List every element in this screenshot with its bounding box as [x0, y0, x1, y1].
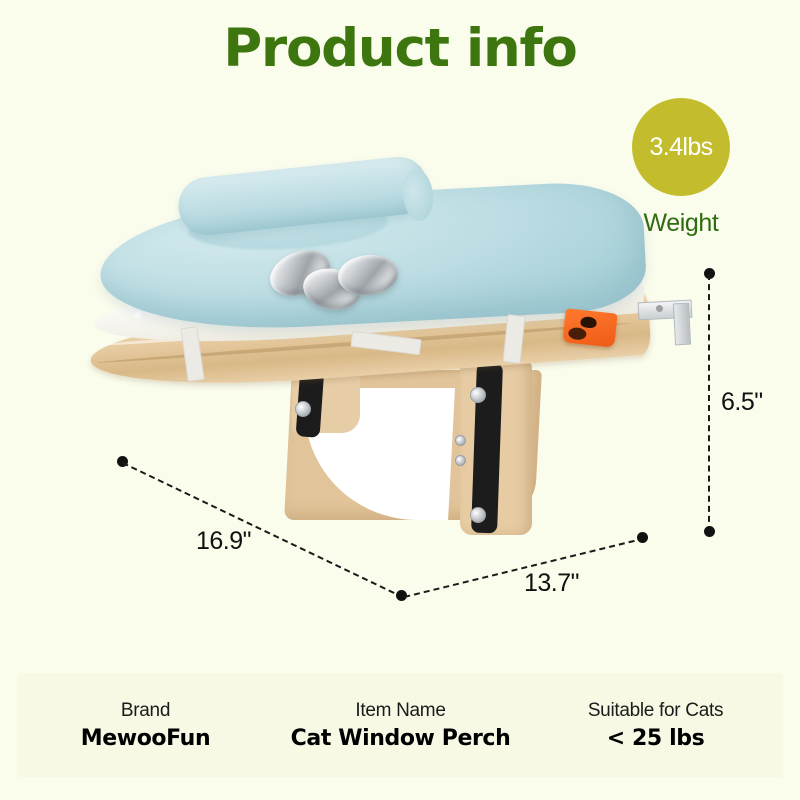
- spec-value: Cat Window Perch: [273, 726, 528, 751]
- spec-label: Brand: [18, 700, 273, 722]
- page-title: Product info: [0, 22, 800, 75]
- screw-icon: [470, 387, 486, 403]
- metal-bracket-flange: [673, 303, 691, 346]
- dimension-label-height: 6.5": [721, 388, 763, 417]
- product-info-graphic: Product info 3.4lbs Weight: [0, 0, 800, 800]
- dimension-line-height: [708, 274, 710, 532]
- screw-icon: [455, 455, 466, 466]
- screw-icon: [455, 435, 466, 446]
- dimension-label-depth: 13.7": [524, 569, 579, 598]
- orange-brand-tag-icon: [562, 308, 617, 347]
- screw-icon: [295, 401, 311, 417]
- spec-bar: Brand MewooFun Item Name Cat Window Perc…: [18, 673, 783, 777]
- spec-column-brand: Brand MewooFun: [18, 700, 273, 751]
- spec-label: Suitable for Cats: [528, 700, 783, 722]
- spec-label: Item Name: [273, 700, 528, 722]
- spec-column-suitable-for-cats: Suitable for Cats < 25 lbs: [528, 700, 783, 751]
- screw-icon: [470, 507, 486, 523]
- product-image: [70, 155, 690, 555]
- spec-column-item-name: Item Name Cat Window Perch: [273, 700, 528, 751]
- spec-value: < 25 lbs: [528, 726, 783, 751]
- dimension-endpoint-dot: [704, 526, 715, 537]
- dimension-endpoint-dot: [637, 532, 648, 543]
- dimension-label-width: 16.9": [196, 527, 251, 556]
- spec-value: MewooFun: [18, 726, 273, 751]
